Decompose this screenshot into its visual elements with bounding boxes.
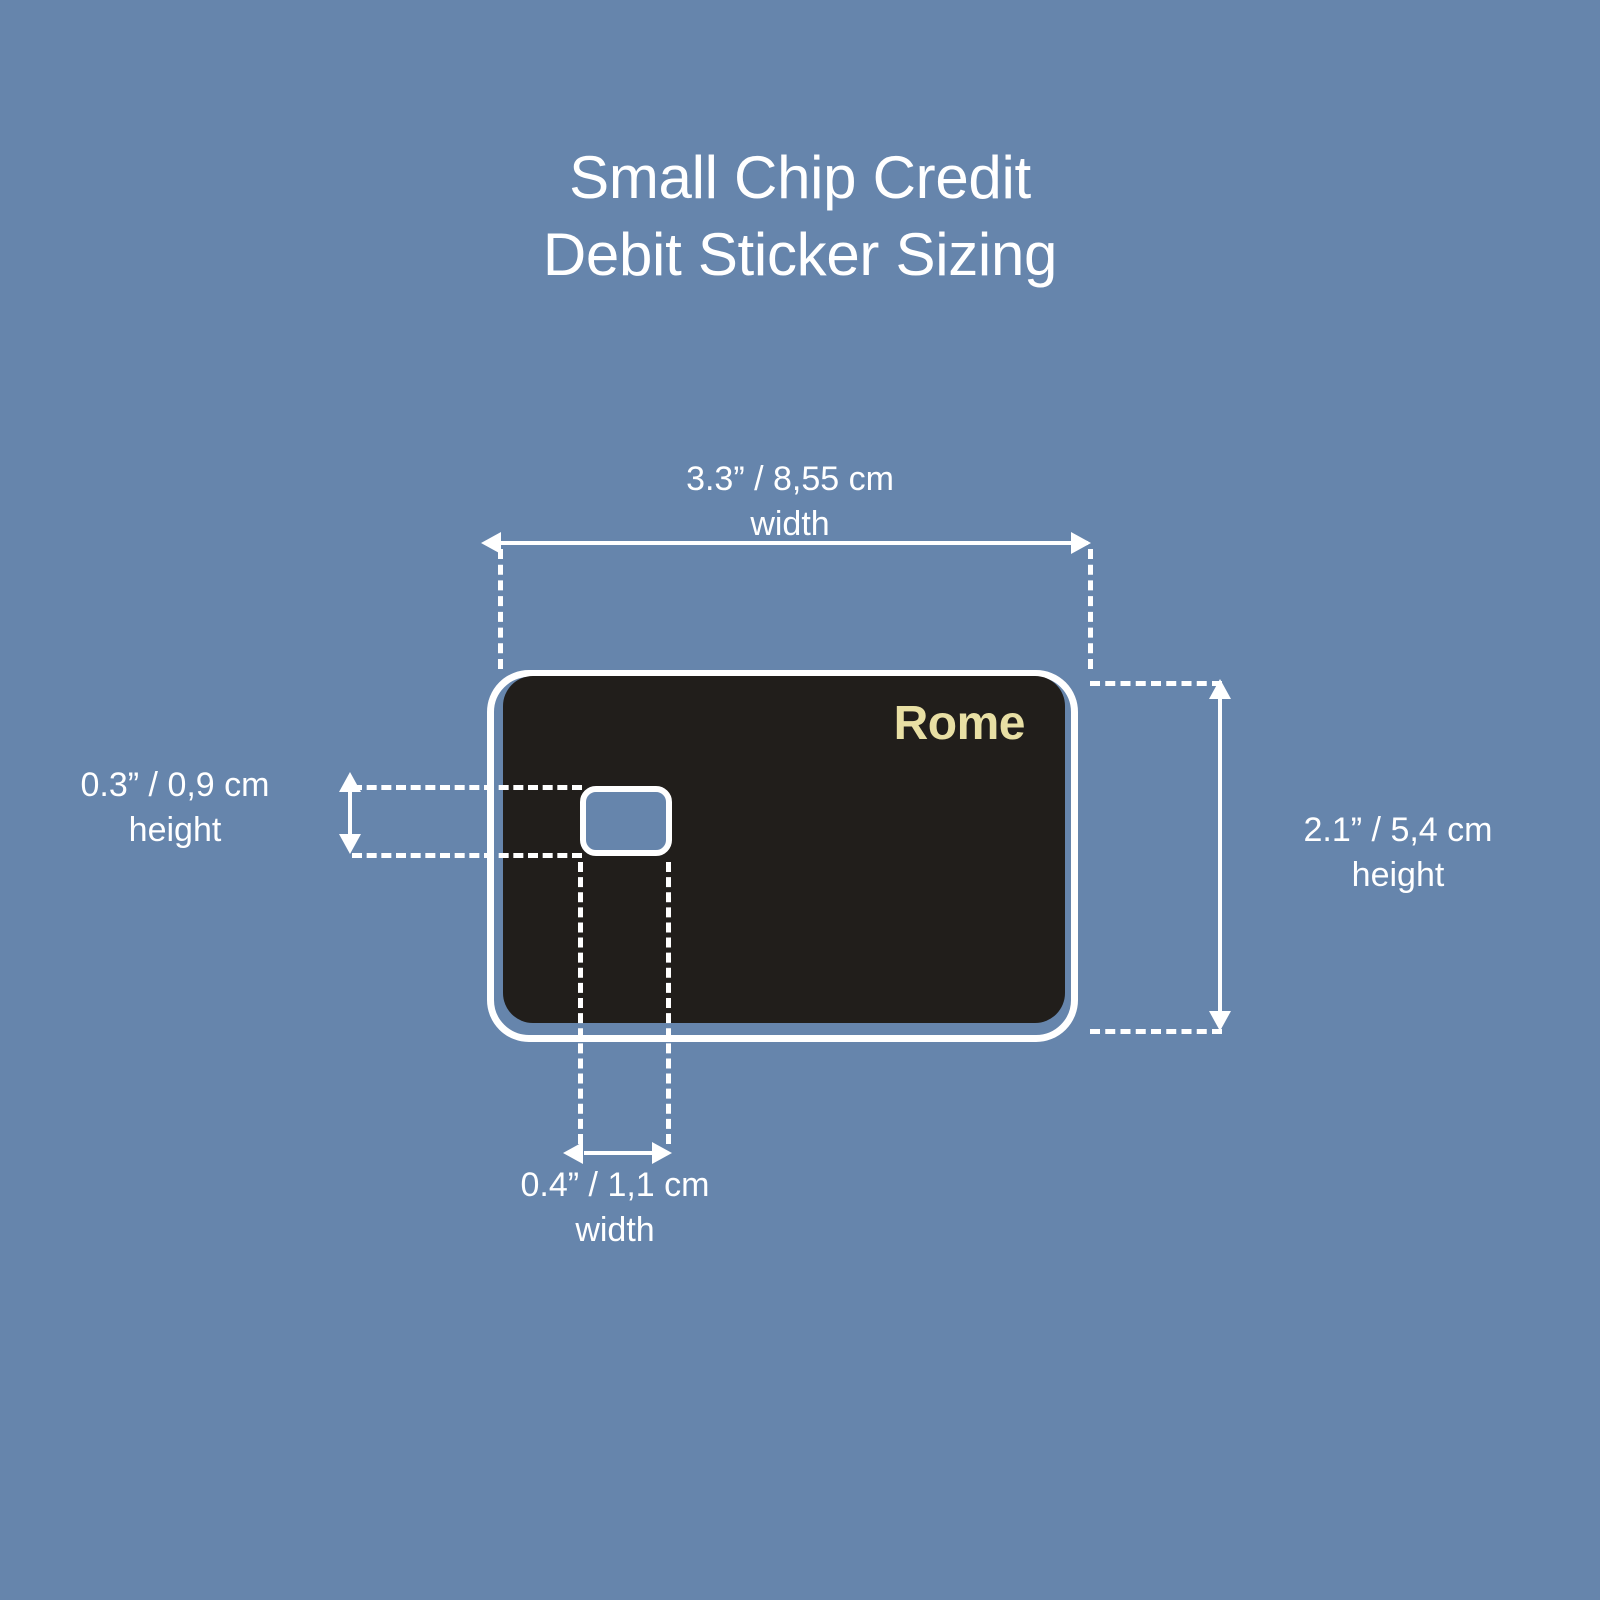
page-title: Small Chip Credit Debit Sticker Sizing bbox=[0, 140, 1600, 294]
chip-width-arrow-left-icon bbox=[563, 1142, 583, 1164]
card-width-dimension-line bbox=[500, 541, 1088, 545]
chip-height-arrow-up-icon bbox=[339, 772, 361, 792]
chip-width-dimension-label: 0.4” / 1,1 cm width bbox=[455, 1163, 775, 1253]
card-width-extension-right bbox=[1088, 549, 1093, 669]
chip-height-extension-bottom bbox=[352, 853, 582, 858]
chip-cutout bbox=[580, 786, 672, 856]
rome-logo: Rome bbox=[894, 700, 1025, 748]
card-width-dimension-label: 3.3” / 8,55 cm width bbox=[555, 457, 1025, 547]
chip-width-axis: width bbox=[455, 1208, 775, 1253]
chip-width-extension-right bbox=[666, 862, 671, 1144]
chip-height-arrow-down-icon bbox=[339, 834, 361, 854]
card-height-arrow-up-icon bbox=[1209, 679, 1231, 699]
card-width-extension-left bbox=[498, 549, 503, 669]
chip-width-measure: 0.4” / 1,1 cm bbox=[455, 1163, 775, 1208]
chip-height-measure: 0.3” / 0,9 cm bbox=[20, 763, 330, 808]
card-height-extension-bottom bbox=[1090, 1029, 1222, 1034]
chip-width-dimension-line bbox=[584, 1151, 656, 1155]
card-height-extension-top bbox=[1090, 681, 1222, 686]
card-height-dimension-label: 2.1” / 5,4 cm height bbox=[1218, 808, 1578, 898]
chip-height-dimension-label: 0.3” / 0,9 cm height bbox=[20, 763, 330, 853]
chip-width-extension-left bbox=[578, 862, 583, 1144]
chip-width-arrow-right-icon bbox=[652, 1142, 672, 1164]
sizing-diagram-canvas: Small Chip Credit Debit Sticker Sizing 3… bbox=[0, 0, 1600, 1600]
card-height-axis: height bbox=[1218, 853, 1578, 898]
card-width-measure: 3.3” / 8,55 cm bbox=[555, 457, 1025, 502]
page-title-line-2: Debit Sticker Sizing bbox=[0, 217, 1600, 294]
chip-height-extension-top bbox=[352, 785, 582, 790]
card-height-arrow-down-icon bbox=[1209, 1011, 1231, 1031]
page-title-line-1: Small Chip Credit bbox=[0, 140, 1600, 217]
card-height-measure: 2.1” / 5,4 cm bbox=[1218, 808, 1578, 853]
chip-height-axis: height bbox=[20, 808, 330, 853]
